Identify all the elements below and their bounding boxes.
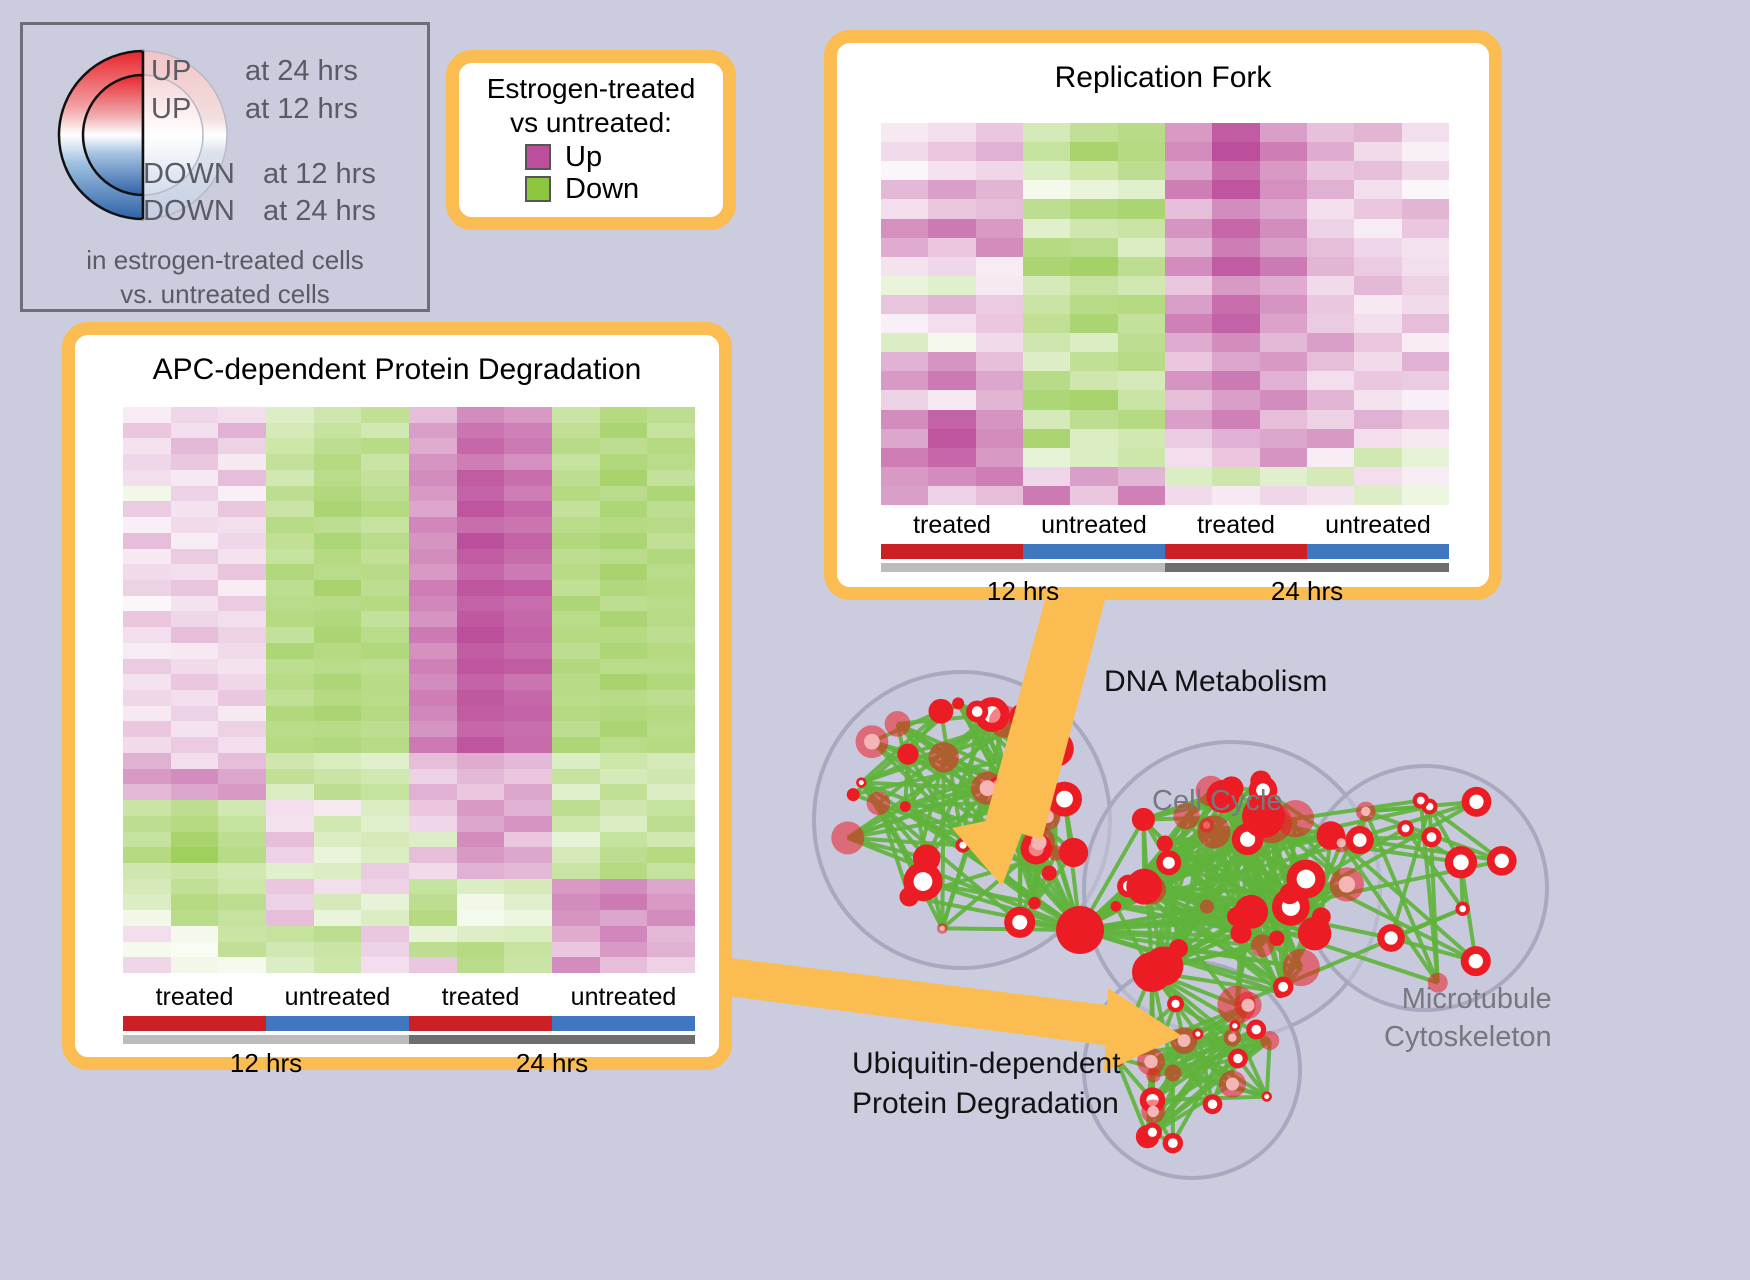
heatmap-cell [314,659,362,675]
network-node[interactable] [1260,1031,1279,1050]
heatmap-cell [457,501,505,517]
key-caption: in estrogen-treated cells vs. untreated … [23,243,427,311]
heatmap-cell [361,926,409,942]
heatmap-cell [1402,180,1449,199]
heatmap-cell [552,580,600,596]
network-node[interactable] [899,887,918,906]
heatmap-cell [409,894,457,910]
heatmap-cell [504,533,552,549]
heatmap-cell [881,199,928,218]
heatmap-cell [1402,123,1449,142]
network-node[interactable] [897,744,918,765]
heatmap-cell [504,438,552,454]
heatmap-cell [409,690,457,706]
heatmap-cell [361,737,409,753]
network-node[interactable] [1157,835,1173,851]
network-node[interactable] [952,697,964,709]
heatmap-cell [976,352,1023,371]
heatmap-cell [928,429,975,448]
heatmap-cell [600,486,648,502]
heatmap-cell [123,659,171,675]
heatmap-cell [928,467,975,486]
heatmap-cell [218,470,266,486]
heatmap-cell [123,423,171,439]
heatmap-cell [409,863,457,879]
bar-12hrs [881,563,1165,572]
heatmap-cell [266,847,314,863]
heatmap-cell [171,611,219,627]
network-node[interactable] [956,838,971,853]
network-node[interactable] [1141,1100,1165,1124]
heatmap-cell [457,564,505,580]
heatmap-cell [1307,142,1354,161]
heatmap-cell [552,847,600,863]
heatmap-cell [647,942,695,958]
network-node[interactable] [1126,869,1162,905]
network-node[interactable] [867,791,891,815]
network-node[interactable] [1279,884,1300,905]
network-node[interactable] [1273,977,1294,998]
network-node[interactable] [1330,867,1364,901]
network-node[interactable] [1042,866,1057,881]
heatmap-cell [266,486,314,502]
apc-degradation-panel: APC-dependent Protein Degradation treate… [62,322,732,1070]
heatmap-cell [361,407,409,423]
heatmap-cell [457,407,505,423]
heatmap-cell [361,611,409,627]
heatmap-cell [647,737,695,753]
heatmap-cell [600,784,648,800]
heatmap-cell [266,832,314,848]
heatmap-cell [647,926,695,942]
bar-treated-24 [409,1016,552,1031]
heatmap-cell [647,611,695,627]
heatmap-grid [123,407,695,973]
heatmap-cell [600,564,648,580]
network-node[interactable] [1197,815,1230,848]
heatmap-cell [1070,238,1117,257]
heatmap-cell [314,769,362,785]
heatmap-cell [504,643,552,659]
heatmap-cell [171,721,219,737]
heatmap-cell [504,910,552,926]
heatmap-cell [171,753,219,769]
heatmap-cell [314,501,362,517]
heatmap-cell [171,690,219,706]
heatmap-cell [1023,390,1070,409]
network-node[interactable] [1455,902,1469,916]
heatmap-cell [123,690,171,706]
heatmap-cell [361,800,409,816]
heatmap-cell [361,879,409,895]
heatmap-cell [1402,142,1449,161]
heatmap-cell [457,957,505,973]
heatmap-cell [218,533,266,549]
heatmap-cell [600,753,648,769]
heatmap-cell [504,879,552,895]
heatmap-cell [361,580,409,596]
bar-24hrs [1165,563,1449,572]
heatmap-cell [171,894,219,910]
network-node[interactable] [971,772,1004,805]
network-node[interactable] [1163,1133,1183,1153]
network-node[interactable] [1169,939,1188,958]
heatmap-grid [881,123,1449,505]
heatmap-cell [171,706,219,722]
network-node[interactable] [1200,900,1214,914]
heatmap-cell [881,219,928,238]
network-node[interactable] [1346,826,1374,854]
time-label-12: 12 hrs [881,576,1165,607]
heatmap-cell [457,847,505,863]
heatmap-cell [218,800,266,816]
heatmap-cell [552,486,600,502]
heatmap-cell [928,390,975,409]
network-node[interactable] [1262,1091,1272,1101]
heatmap-cell [266,596,314,612]
heatmap-cell [1307,199,1354,218]
heatmap-cell [552,926,600,942]
network-node[interactable] [1228,1049,1248,1069]
heatmap-cell [1354,276,1401,295]
replication-fork-title: Replication Fork [837,61,1489,95]
heatmap-cell [600,438,648,454]
heatmap-cell [171,926,219,942]
heatmap-cell [314,879,362,895]
heatmap-cell [266,690,314,706]
network-node[interactable] [1421,827,1441,847]
heatmap-cell [314,454,362,470]
network-node[interactable] [856,725,889,758]
heatmap-cell [647,879,695,895]
heatmap-cell [1023,219,1070,238]
heatmap-cell [1118,295,1165,314]
heatmap-cell [552,454,600,470]
heatmap-cell [600,800,648,816]
heatmap-cell [266,407,314,423]
heatmap-cell [552,784,600,800]
heatmap-cell [1260,219,1307,238]
heatmap-cell [457,942,505,958]
key-time-down-12: at 12 hrs [263,158,376,191]
heatmap-cell [1165,467,1212,486]
heatmap-cell [1118,180,1165,199]
heatmap-cell [1165,314,1212,333]
heatmap-cell [647,894,695,910]
heatmap-cell [1307,180,1354,199]
heatmap-cell [928,276,975,295]
heatmap-cell [1212,123,1259,142]
network-node[interactable] [966,701,988,723]
heatmap-cell [1070,333,1117,352]
heatmap-cell [171,737,219,753]
heatmap-cell [361,894,409,910]
heatmap-cell [171,470,219,486]
heatmap-cell [314,910,362,926]
network-node[interactable] [1219,1070,1246,1097]
heatmap-cell [218,769,266,785]
heatmap-cell [1307,295,1354,314]
network-node[interactable] [1356,802,1376,822]
heatmap-cell [409,769,457,785]
network-node[interactable] [1132,952,1172,992]
sample-group-label: untreated [1307,511,1449,540]
heatmap-cell [171,659,219,675]
network-node[interactable] [1269,931,1284,946]
heatmap-cell [1165,123,1212,142]
heatmap-cell [409,470,457,486]
network-node[interactable] [1203,1094,1223,1114]
heatmap-cell [361,769,409,785]
network-node[interactable] [1143,1123,1162,1142]
heatmap-cell [1354,371,1401,390]
heatmap-cell [881,238,928,257]
heatmap-cell [504,564,552,580]
heatmap-cell [218,894,266,910]
heatmap-cell [1165,486,1212,505]
heatmap-cell [1402,238,1449,257]
network-node[interactable] [1012,740,1033,761]
heatmap-cell [600,832,648,848]
network-node[interactable] [1397,820,1414,837]
heatmap-cell [409,611,457,627]
heatmap-cell [1118,142,1165,161]
heatmap-cell [1070,219,1117,238]
heatmap-cell [409,832,457,848]
heatmap-cell [928,314,975,333]
heatmap-cell [457,816,505,832]
heatmap-cell [600,674,648,690]
heatmap-cell [1070,371,1117,390]
network-node[interactable] [1048,845,1064,861]
heatmap-cell [1260,352,1307,371]
network-node[interactable] [885,711,911,737]
heatmap-cell [1260,429,1307,448]
heatmap-cell [1165,333,1212,352]
heatmap-cell [552,533,600,549]
network-node[interactable] [1056,906,1104,954]
network-node[interactable] [847,788,860,801]
heatmap-cell [1212,219,1259,238]
network-node[interactable] [856,777,866,787]
timepoint-color-bar [881,563,1449,572]
network-node[interactable] [1137,1048,1165,1076]
heatmap-cell [1260,161,1307,180]
heatmap-cell [504,596,552,612]
heatmap-cell [361,690,409,706]
network-node[interactable] [900,801,911,812]
heatmap-cell [409,454,457,470]
heatmap-cell [600,879,648,895]
heatmap-cell [123,721,171,737]
heatmap-cell [1402,161,1449,180]
heatmap-cell [218,753,266,769]
network-node[interactable] [1156,850,1181,875]
heatmap-cell [314,706,362,722]
network-node[interactable] [1462,787,1492,817]
heatmap-cell [314,627,362,643]
heatmap-cell [1212,390,1259,409]
time-label-24: 24 hrs [1165,576,1449,607]
heatmap-cell [409,926,457,942]
heatmap-cell [976,276,1023,295]
heatmap-cell [552,674,600,690]
sample-group-label: treated [881,511,1023,540]
heatmap-cell [1212,257,1259,276]
heatmap-cell [457,627,505,643]
heatmap-cell [552,832,600,848]
heatmap-cell [218,407,266,423]
apc-degradation-heatmap [123,407,695,973]
network-node[interactable] [1445,846,1477,878]
heatmap-cell [171,407,219,423]
heatmap-cell [600,816,648,832]
network-node[interactable] [1227,907,1247,927]
network-node[interactable] [1028,897,1041,910]
network-node[interactable] [937,923,948,934]
heatmap-cell [1165,276,1212,295]
network-node[interactable] [928,699,953,724]
heatmap-cell [171,454,219,470]
legend-title-line1: Estrogen-treated [459,72,723,106]
network-node[interactable] [1167,995,1184,1012]
heatmap-cell [504,517,552,533]
heatmap-cell [600,501,648,517]
heatmap-cell [552,627,600,643]
treatment-color-bar [881,544,1449,559]
network-node[interactable] [1159,1026,1171,1038]
heatmap-cell [218,690,266,706]
network-node[interactable] [1312,907,1331,926]
heatmap-cell [600,769,648,785]
heatmap-cell [218,957,266,973]
heatmap-cell [409,659,457,675]
heatmap-cell [1354,219,1401,238]
heatmap-cell [457,800,505,816]
heatmap-cell [361,674,409,690]
network-node[interactable] [1413,792,1429,808]
heatmap-cell [218,832,266,848]
heatmap-cell [409,627,457,643]
network-node[interactable] [1037,730,1073,766]
heatmap-cell [171,784,219,800]
heatmap-cell [1165,161,1212,180]
legend-label-down: Down [565,174,639,204]
heatmap-cell [361,832,409,848]
heatmap-cell [1023,180,1070,199]
heatmap-cell [361,863,409,879]
heatmap-cell [457,737,505,753]
heatmap-cell [647,533,695,549]
network-node[interactable] [831,821,864,854]
heatmap-cell [314,517,362,533]
heatmap-cell [600,659,648,675]
heatmap-cell [552,596,600,612]
heatmap-cell [600,580,648,596]
heatmap-cell [552,407,600,423]
network-node[interactable] [989,706,1021,738]
heatmap-cell [266,863,314,879]
heatmap-cell [266,769,314,785]
heatmap-cell [409,517,457,533]
heatmap-cell [976,219,1023,238]
bar-treated-12 [123,1016,266,1031]
heatmap-cell [552,769,600,785]
heatmap-cell [600,737,648,753]
heatmap-cell [1023,142,1070,161]
network-node[interactable] [929,742,959,772]
heatmap-cell [457,596,505,612]
heatmap-cell [976,314,1023,333]
heatmap-cell [314,533,362,549]
network-node[interactable] [1004,907,1035,938]
heatmap-cell [218,737,266,753]
heatmap-cell [881,410,928,429]
heatmap-cell [647,423,695,439]
heatmap-cell [123,501,171,517]
heatmap-cell [409,706,457,722]
network-node[interactable] [1171,1027,1198,1054]
treatment-color-bar [123,1016,695,1031]
heatmap-cell [881,486,928,505]
heatmap-cell [171,627,219,643]
heatmap-cell [504,942,552,958]
heatmap-cell [976,161,1023,180]
heatmap-cell [314,438,362,454]
heatmap-cell [600,627,648,643]
heatmap-cell [409,816,457,832]
network-node[interactable] [1224,1029,1242,1047]
heatmap-cell [647,407,695,423]
heatmap-cell [123,753,171,769]
heatmap-cell [647,784,695,800]
heatmap-cell [1402,429,1449,448]
network-node[interactable] [1461,946,1491,976]
heatmap-cell [218,643,266,659]
heatmap-cell [409,910,457,926]
heatmap-cell [881,352,928,371]
heatmap-cell [123,957,171,973]
replication-fork-heatmap [881,123,1449,505]
heatmap-cell [504,863,552,879]
heatmap-cell [123,926,171,942]
heatmap-cell [314,894,362,910]
network-node[interactable] [1164,1064,1181,1081]
heatmap-cell [976,429,1023,448]
heatmap-cell [647,564,695,580]
heatmap-cell [1354,390,1401,409]
heatmap-cell [552,957,600,973]
heatmap-cell [1118,219,1165,238]
heatmap-cell [218,580,266,596]
heatmap-cell [504,769,552,785]
network-node[interactable] [1234,992,1261,1019]
heatmap-cell [266,800,314,816]
heatmap-cell [1165,352,1212,371]
heatmap-cell [504,816,552,832]
network-node[interactable] [1377,924,1405,952]
heatmap-cell [457,784,505,800]
network-node[interactable] [1110,901,1121,912]
network-node[interactable] [1229,1020,1240,1031]
heatmap-cell [361,438,409,454]
heatmap-cell [123,879,171,895]
network-node[interactable] [1487,846,1517,876]
heatmap-cell [1023,448,1070,467]
key-label-down-24: DOWN [143,195,235,228]
network-node[interactable] [913,844,940,871]
heatmap-cell [1402,314,1449,333]
